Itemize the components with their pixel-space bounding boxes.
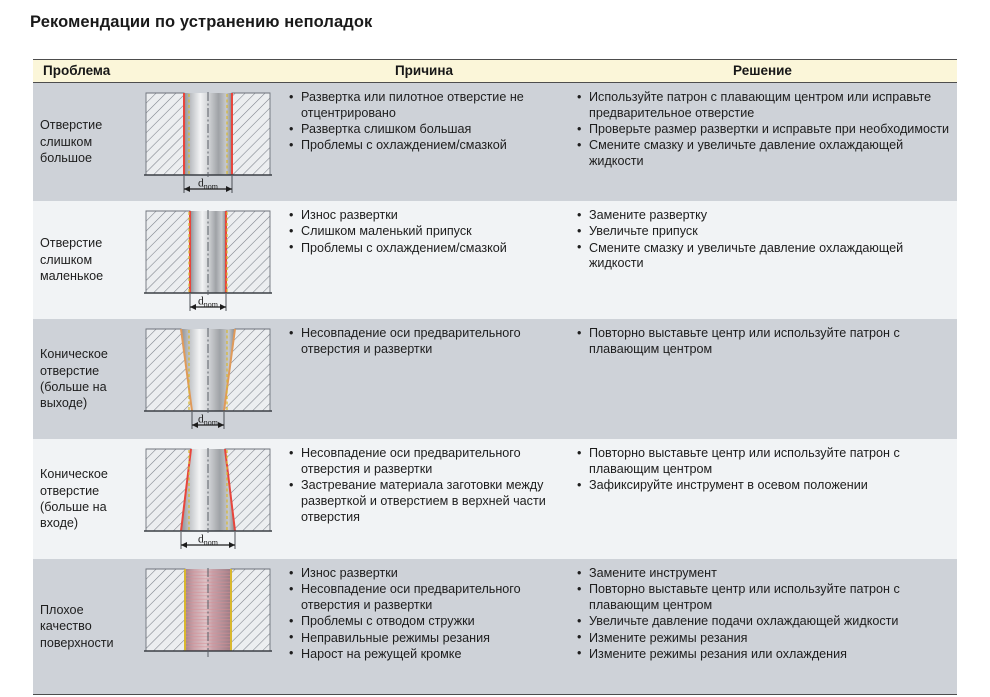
cell-solution-list: Используйте патрон с плавающим центром и… xyxy=(576,90,953,170)
hole-too-large-cross-section: dnom xyxy=(140,89,276,201)
column-header-problem: Проблема xyxy=(33,60,280,82)
list-item: Замените инструмент xyxy=(576,566,953,582)
list-item: Повторно выставьте центр или используйте… xyxy=(576,326,953,358)
cell-figure: dnom xyxy=(135,201,280,319)
cell-cause-list: Развертка или пилотное отверстие не отце… xyxy=(288,90,564,154)
list-item: Слишком маленький припуск xyxy=(288,224,564,240)
cell-solution-list: Повторно выставьте центр или используйте… xyxy=(576,326,953,358)
list-item: Измените режимы резания xyxy=(576,631,953,647)
cell-problem: Отверстие слишком маленькое xyxy=(33,201,135,319)
cell-figure: dnom xyxy=(135,319,280,439)
cell-solution-list: Замените инструментПовторно выставьте це… xyxy=(576,566,953,663)
list-item: Застревание материала заготовки между ра… xyxy=(288,478,564,525)
page-title: Рекомендации по устранению неполадок xyxy=(30,13,372,32)
cell-cause: Износ разверткиСлишком маленький припуск… xyxy=(280,201,568,319)
list-item: Развертка или пилотное отверстие не отце… xyxy=(288,90,564,122)
poor-surface-finish-cross-section xyxy=(140,565,276,677)
cell-cause: Износ разверткиНесовпадение оси предвари… xyxy=(280,559,568,694)
cell-problem: Коническое отверстие (больше на входе) xyxy=(33,439,135,559)
list-item: Проблемы с отводом стружки xyxy=(288,614,564,630)
cell-solution: Повторно выставьте центр или используйте… xyxy=(568,439,957,559)
tapered-hole-wider-at-entry-cross-section: dnom xyxy=(140,445,276,557)
cell-cause-list: Износ разверткиСлишком маленький припуск… xyxy=(288,208,564,256)
list-item: Измените режимы резания или охлаждения xyxy=(576,647,953,663)
cell-figure: dnom xyxy=(135,83,280,201)
troubleshooting-page: Рекомендации по устранению неполадок Про… xyxy=(0,0,990,697)
list-item: Используйте патрон с плавающим центром и… xyxy=(576,90,953,122)
list-item: Увеличьте давление подачи охлаждающей жи… xyxy=(576,614,953,630)
problem-label: Отверстие слишком маленькое xyxy=(40,235,135,284)
problem-label: Плохое качество поверхности xyxy=(40,602,135,651)
dimension-label: dnom xyxy=(198,296,219,310)
table-row: Отверстие слишком большоеdnomРазвертка и… xyxy=(33,83,957,201)
list-item: Проблемы с охлаждением/смазкой xyxy=(288,241,564,257)
cell-solution: Замените инструментПовторно выставьте це… xyxy=(568,559,957,694)
list-item: Несовпадение оси предварительного отверс… xyxy=(288,446,564,478)
list-item: Нарост на режущей кромке xyxy=(288,647,564,663)
cell-cause: Несовпадение оси предварительного отверс… xyxy=(280,319,568,439)
cell-solution: Используйте патрон с плавающим центром и… xyxy=(568,83,957,201)
cell-problem: Плохое качество поверхности xyxy=(33,559,135,694)
table-row: Отверстие слишком маленькоеdnomИзнос раз… xyxy=(33,201,957,319)
list-item: Несовпадение оси предварительного отверс… xyxy=(288,582,564,614)
table-body: Отверстие слишком большоеdnomРазвертка и… xyxy=(33,83,957,694)
dimension-label: dnom xyxy=(198,178,219,192)
cell-cause-list: Несовпадение оси предварительного отверс… xyxy=(288,446,564,525)
table-row: Коническое отверстие (больше на выходе)d… xyxy=(33,319,957,439)
list-item: Повторно выставьте центр или используйте… xyxy=(576,582,953,614)
list-item: Проверьте размер развертки и исправьте п… xyxy=(576,122,953,138)
cell-solution-list: Повторно выставьте центр или используйте… xyxy=(576,446,953,494)
list-item: Смените смазку и увеличьте давление охла… xyxy=(576,241,953,273)
cell-solution: Замените разверткуУвеличьте припускСмени… xyxy=(568,201,957,319)
cell-solution: Повторно выставьте центр или используйте… xyxy=(568,319,957,439)
cell-figure: dnom xyxy=(135,439,280,559)
tapered-hole-wider-at-exit-cross-section: dnom xyxy=(140,325,276,437)
list-item: Износ развертки xyxy=(288,208,564,224)
problem-label: Коническое отверстие (больше на входе) xyxy=(40,466,135,531)
cell-cause-list: Несовпадение оси предварительного отверс… xyxy=(288,326,564,358)
column-header-cause: Причина xyxy=(280,60,568,82)
list-item: Замените развертку xyxy=(576,208,953,224)
problem-label: Коническое отверстие (больше на выходе) xyxy=(40,346,135,411)
cell-solution-list: Замените разверткуУвеличьте припускСмени… xyxy=(576,208,953,272)
list-item: Проблемы с охлаждением/смазкой xyxy=(288,138,564,154)
cell-cause: Развертка или пилотное отверстие не отце… xyxy=(280,83,568,201)
cell-problem: Отверстие слишком большое xyxy=(33,83,135,201)
cell-cause: Несовпадение оси предварительного отверс… xyxy=(280,439,568,559)
dimension-label: dnom xyxy=(198,534,219,548)
list-item: Износ развертки xyxy=(288,566,564,582)
list-item: Неправильные режимы резания xyxy=(288,631,564,647)
table-row: Коническое отверстие (больше на входе)dn… xyxy=(33,439,957,559)
cell-cause-list: Износ разверткиНесовпадение оси предвари… xyxy=(288,566,564,663)
troubleshooting-table: Проблема Причина Решение Отверстие слишк… xyxy=(33,59,957,695)
hole-too-small-cross-section: dnom xyxy=(140,207,276,319)
list-item: Повторно выставьте центр или используйте… xyxy=(576,446,953,478)
cell-problem: Коническое отверстие (больше на выходе) xyxy=(33,319,135,439)
list-item: Зафиксируйте инструмент в осевом положен… xyxy=(576,478,953,494)
dimension-label: dnom xyxy=(198,414,219,428)
list-item: Увеличьте припуск xyxy=(576,224,953,240)
table-row: Плохое качество поверхностиИзнос разверт… xyxy=(33,559,957,694)
list-item: Развертка слишком большая xyxy=(288,122,564,138)
list-item: Несовпадение оси предварительного отверс… xyxy=(288,326,564,358)
table-header-row: Проблема Причина Решение xyxy=(33,60,957,83)
list-item: Смените смазку и увеличьте давление охла… xyxy=(576,138,953,170)
cell-figure xyxy=(135,559,280,694)
column-header-solution: Решение xyxy=(568,60,957,82)
problem-label: Отверстие слишком большое xyxy=(40,117,135,166)
